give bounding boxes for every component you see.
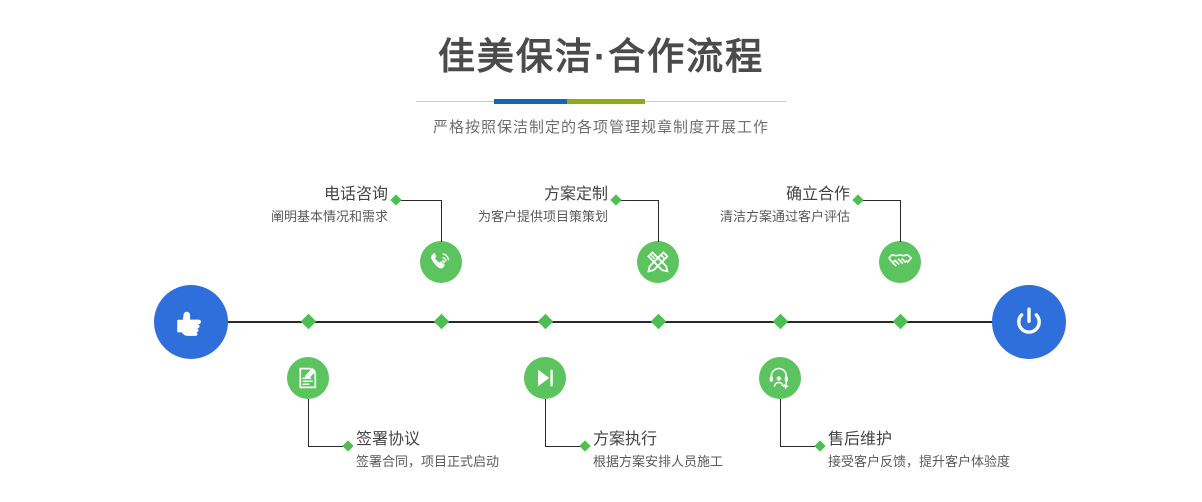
timeline-marker-6 (893, 314, 909, 330)
step-title-5: 确立合作 (604, 185, 850, 205)
timeline-marker-5 (773, 314, 789, 330)
divider-segment-blue (494, 99, 567, 104)
step-desc-2: 签署合同，项目正式启动 (356, 452, 616, 472)
step-title-2: 签署协议 (356, 430, 616, 450)
process-flow-page: 佳美保洁·合作流程 严格按照保洁制定的各项管理规章制度开展工作 (0, 0, 1202, 502)
step-label-1: 电话咨询 阐明基本情况和需求 (138, 185, 388, 227)
step-label-2: 签署协议 签署合同，项目正式启动 (356, 430, 616, 472)
page-header: 佳美保洁·合作流程 严格按照保洁制定的各项管理规章制度开展工作 (0, 0, 1202, 137)
timeline-marker-3 (538, 314, 554, 330)
page-subtitle: 严格按照保洁制定的各项管理规章制度开展工作 (0, 104, 1202, 137)
step-connector-v-2 (308, 399, 309, 446)
pencil-ruler-icon (645, 249, 671, 275)
page-title: 佳美保洁·合作流程 (0, 0, 1202, 75)
step-desc-6: 接受客户反馈，提升客户体验度 (828, 452, 1108, 472)
step-desc-3: 为客户提供项目策策划 (362, 207, 608, 227)
handshake-icon (887, 249, 913, 275)
step-connector-v-4 (545, 399, 546, 446)
step-label-3: 方案定制 为客户提供项目策策划 (362, 185, 608, 227)
step-connector-v-5 (900, 200, 901, 242)
pointing-hand-icon (171, 302, 211, 342)
step-tip-diamond-5 (852, 194, 863, 205)
step-tip-diamond-2 (342, 440, 353, 451)
step-desc-5: 清洁方案通过客户评估 (604, 207, 850, 227)
step-title-3: 方案定制 (362, 185, 608, 205)
step-node-1[interactable] (420, 241, 462, 283)
timeline-start-node[interactable] (154, 285, 228, 359)
title-divider (416, 99, 786, 104)
phone-call-icon (428, 249, 454, 275)
play-execute-icon (532, 365, 558, 391)
step-title-6: 售后维护 (828, 430, 1108, 450)
step-label-4: 方案执行 根据方案安排人员施工 (593, 430, 853, 472)
step-label-6: 售后维护 接受客户反馈，提升客户体验度 (828, 430, 1108, 472)
timeline-marker-2 (434, 314, 450, 330)
step-node-5[interactable] (879, 241, 921, 283)
step-label-5: 确立合作 清洁方案通过客户评估 (604, 185, 850, 227)
step-node-6[interactable] (759, 357, 801, 399)
timeline-marker-4 (651, 314, 667, 330)
step-node-3[interactable] (637, 241, 679, 283)
divider-segment-green (567, 99, 645, 104)
step-title-1: 电话咨询 (138, 185, 388, 205)
power-button-icon (1009, 302, 1049, 342)
document-pen-icon (295, 365, 321, 391)
headset-support-icon (767, 365, 793, 391)
timeline-marker-1 (301, 314, 317, 330)
step-node-2[interactable] (287, 357, 329, 399)
timeline-end-node[interactable] (992, 285, 1066, 359)
step-desc-1: 阐明基本情况和需求 (138, 207, 388, 227)
step-connector-v-6 (780, 399, 781, 446)
step-connector-h-5 (862, 200, 900, 201)
step-desc-4: 根据方案安排人员施工 (593, 452, 853, 472)
step-node-4[interactable] (524, 357, 566, 399)
step-title-4: 方案执行 (593, 430, 853, 450)
